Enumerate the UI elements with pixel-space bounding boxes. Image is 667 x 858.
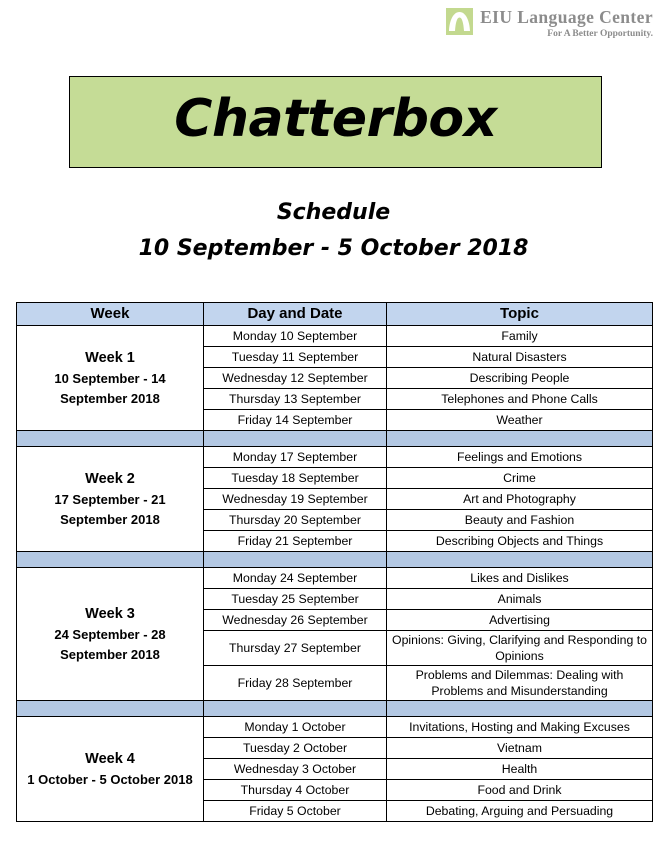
- week-cell: Week 41 October - 5 October 2018: [17, 717, 204, 822]
- column-header-topic: Topic: [387, 303, 653, 326]
- day-and-date-cell: Friday 14 September: [204, 410, 387, 431]
- day-and-date-cell: Wednesday 26 September: [204, 610, 387, 631]
- topic-cell: Family: [387, 326, 653, 347]
- day-and-date-cell: Monday 17 September: [204, 447, 387, 468]
- day-and-date-cell: Monday 10 September: [204, 326, 387, 347]
- topic-cell: Describing People: [387, 368, 653, 389]
- subtitle-date-range: 10 September - 5 October 2018: [0, 234, 667, 264]
- topic-cell: Crime: [387, 468, 653, 489]
- topic-cell: Invitations, Hosting and Making Excuses: [387, 717, 653, 738]
- column-header-week: Week: [17, 303, 204, 326]
- topic-cell: Advertising: [387, 610, 653, 631]
- topic-cell: Problems and Dilemmas: Dealing with Prob…: [387, 666, 653, 701]
- spacer-cell: [204, 552, 387, 568]
- topic-cell: Vietnam: [387, 738, 653, 759]
- day-and-date-cell: Friday 28 September: [204, 666, 387, 701]
- topic-cell: Natural Disasters: [387, 347, 653, 368]
- table-row: Week 41 October - 5 October 2018Monday 1…: [17, 717, 653, 738]
- week-range: 17 September - 21 September 2018: [20, 490, 200, 530]
- brand-name: EIU Language Center: [480, 8, 653, 27]
- brand-header: EIU Language Center For A Better Opportu…: [446, 8, 653, 40]
- topic-cell: Telephones and Phone Calls: [387, 389, 653, 410]
- column-header-day-and-date: Day and Date: [204, 303, 387, 326]
- topic-cell: Feelings and Emotions: [387, 447, 653, 468]
- spacer-cell: [387, 431, 653, 447]
- day-and-date-cell: Friday 21 September: [204, 531, 387, 552]
- week-title: Week 4: [20, 749, 200, 769]
- brand-tagline: For A Better Opportunity.: [480, 28, 653, 40]
- topic-cell: Describing Objects and Things: [387, 531, 653, 552]
- day-and-date-cell: Wednesday 3 October: [204, 759, 387, 780]
- week-title: Week 2: [20, 469, 200, 489]
- page-title: Chatterbox: [174, 93, 496, 145]
- day-and-date-cell: Monday 24 September: [204, 568, 387, 589]
- spacer-row: [17, 701, 653, 717]
- spacer-cell: [17, 431, 204, 447]
- day-and-date-cell: Tuesday 11 September: [204, 347, 387, 368]
- topic-cell: Opinions: Giving, Clarifying and Respond…: [387, 631, 653, 666]
- day-and-date-cell: Wednesday 19 September: [204, 489, 387, 510]
- day-and-date-cell: Thursday 13 September: [204, 389, 387, 410]
- day-and-date-cell: Thursday 27 September: [204, 631, 387, 666]
- topic-cell: Likes and Dislikes: [387, 568, 653, 589]
- week-range: 10 September - 14 September 2018: [20, 369, 200, 409]
- day-and-date-cell: Tuesday 2 October: [204, 738, 387, 759]
- schedule-table: Week Day and Date Topic Week 110 Septemb…: [16, 302, 653, 822]
- table-row: Week 324 September - 28 September 2018Mo…: [17, 568, 653, 589]
- title-banner: Chatterbox: [69, 76, 602, 168]
- topic-cell: Art and Photography: [387, 489, 653, 510]
- spacer-cell: [204, 701, 387, 717]
- spacer-row: [17, 431, 653, 447]
- week-range: 1 October - 5 October 2018: [20, 770, 200, 790]
- table-row: Week 217 September - 21 September 2018Mo…: [17, 447, 653, 468]
- subtitle-block: Schedule 10 September - 5 October 2018: [0, 198, 667, 264]
- topic-cell: Food and Drink: [387, 780, 653, 801]
- spacer-cell: [17, 701, 204, 717]
- table-row: Week 110 September - 14 September 2018Mo…: [17, 326, 653, 347]
- day-and-date-cell: Wednesday 12 September: [204, 368, 387, 389]
- spacer-cell: [204, 431, 387, 447]
- day-and-date-cell: Tuesday 18 September: [204, 468, 387, 489]
- week-cell: Week 217 September - 21 September 2018: [17, 447, 204, 552]
- week-range: 24 September - 28 September 2018: [20, 625, 200, 665]
- topic-cell: Health: [387, 759, 653, 780]
- spacer-cell: [387, 552, 653, 568]
- day-and-date-cell: Friday 5 October: [204, 801, 387, 822]
- topic-cell: Weather: [387, 410, 653, 431]
- spacer-cell: [387, 701, 653, 717]
- topic-cell: Animals: [387, 589, 653, 610]
- topic-cell: Beauty and Fashion: [387, 510, 653, 531]
- day-and-date-cell: Tuesday 25 September: [204, 589, 387, 610]
- week-title: Week 1: [20, 348, 200, 368]
- week-cell: Week 324 September - 28 September 2018: [17, 568, 204, 701]
- arch-logo-icon: [446, 8, 473, 35]
- week-cell: Week 110 September - 14 September 2018: [17, 326, 204, 431]
- day-and-date-cell: Thursday 20 September: [204, 510, 387, 531]
- schedule-table-body: Week 110 September - 14 September 2018Mo…: [17, 326, 653, 822]
- day-and-date-cell: Monday 1 October: [204, 717, 387, 738]
- topic-cell: Debating, Arguing and Persuading: [387, 801, 653, 822]
- week-title: Week 3: [20, 604, 200, 624]
- subtitle-schedule-label: Schedule: [0, 198, 667, 228]
- day-and-date-cell: Thursday 4 October: [204, 780, 387, 801]
- table-header-row: Week Day and Date Topic: [17, 303, 653, 326]
- spacer-cell: [17, 552, 204, 568]
- spacer-row: [17, 552, 653, 568]
